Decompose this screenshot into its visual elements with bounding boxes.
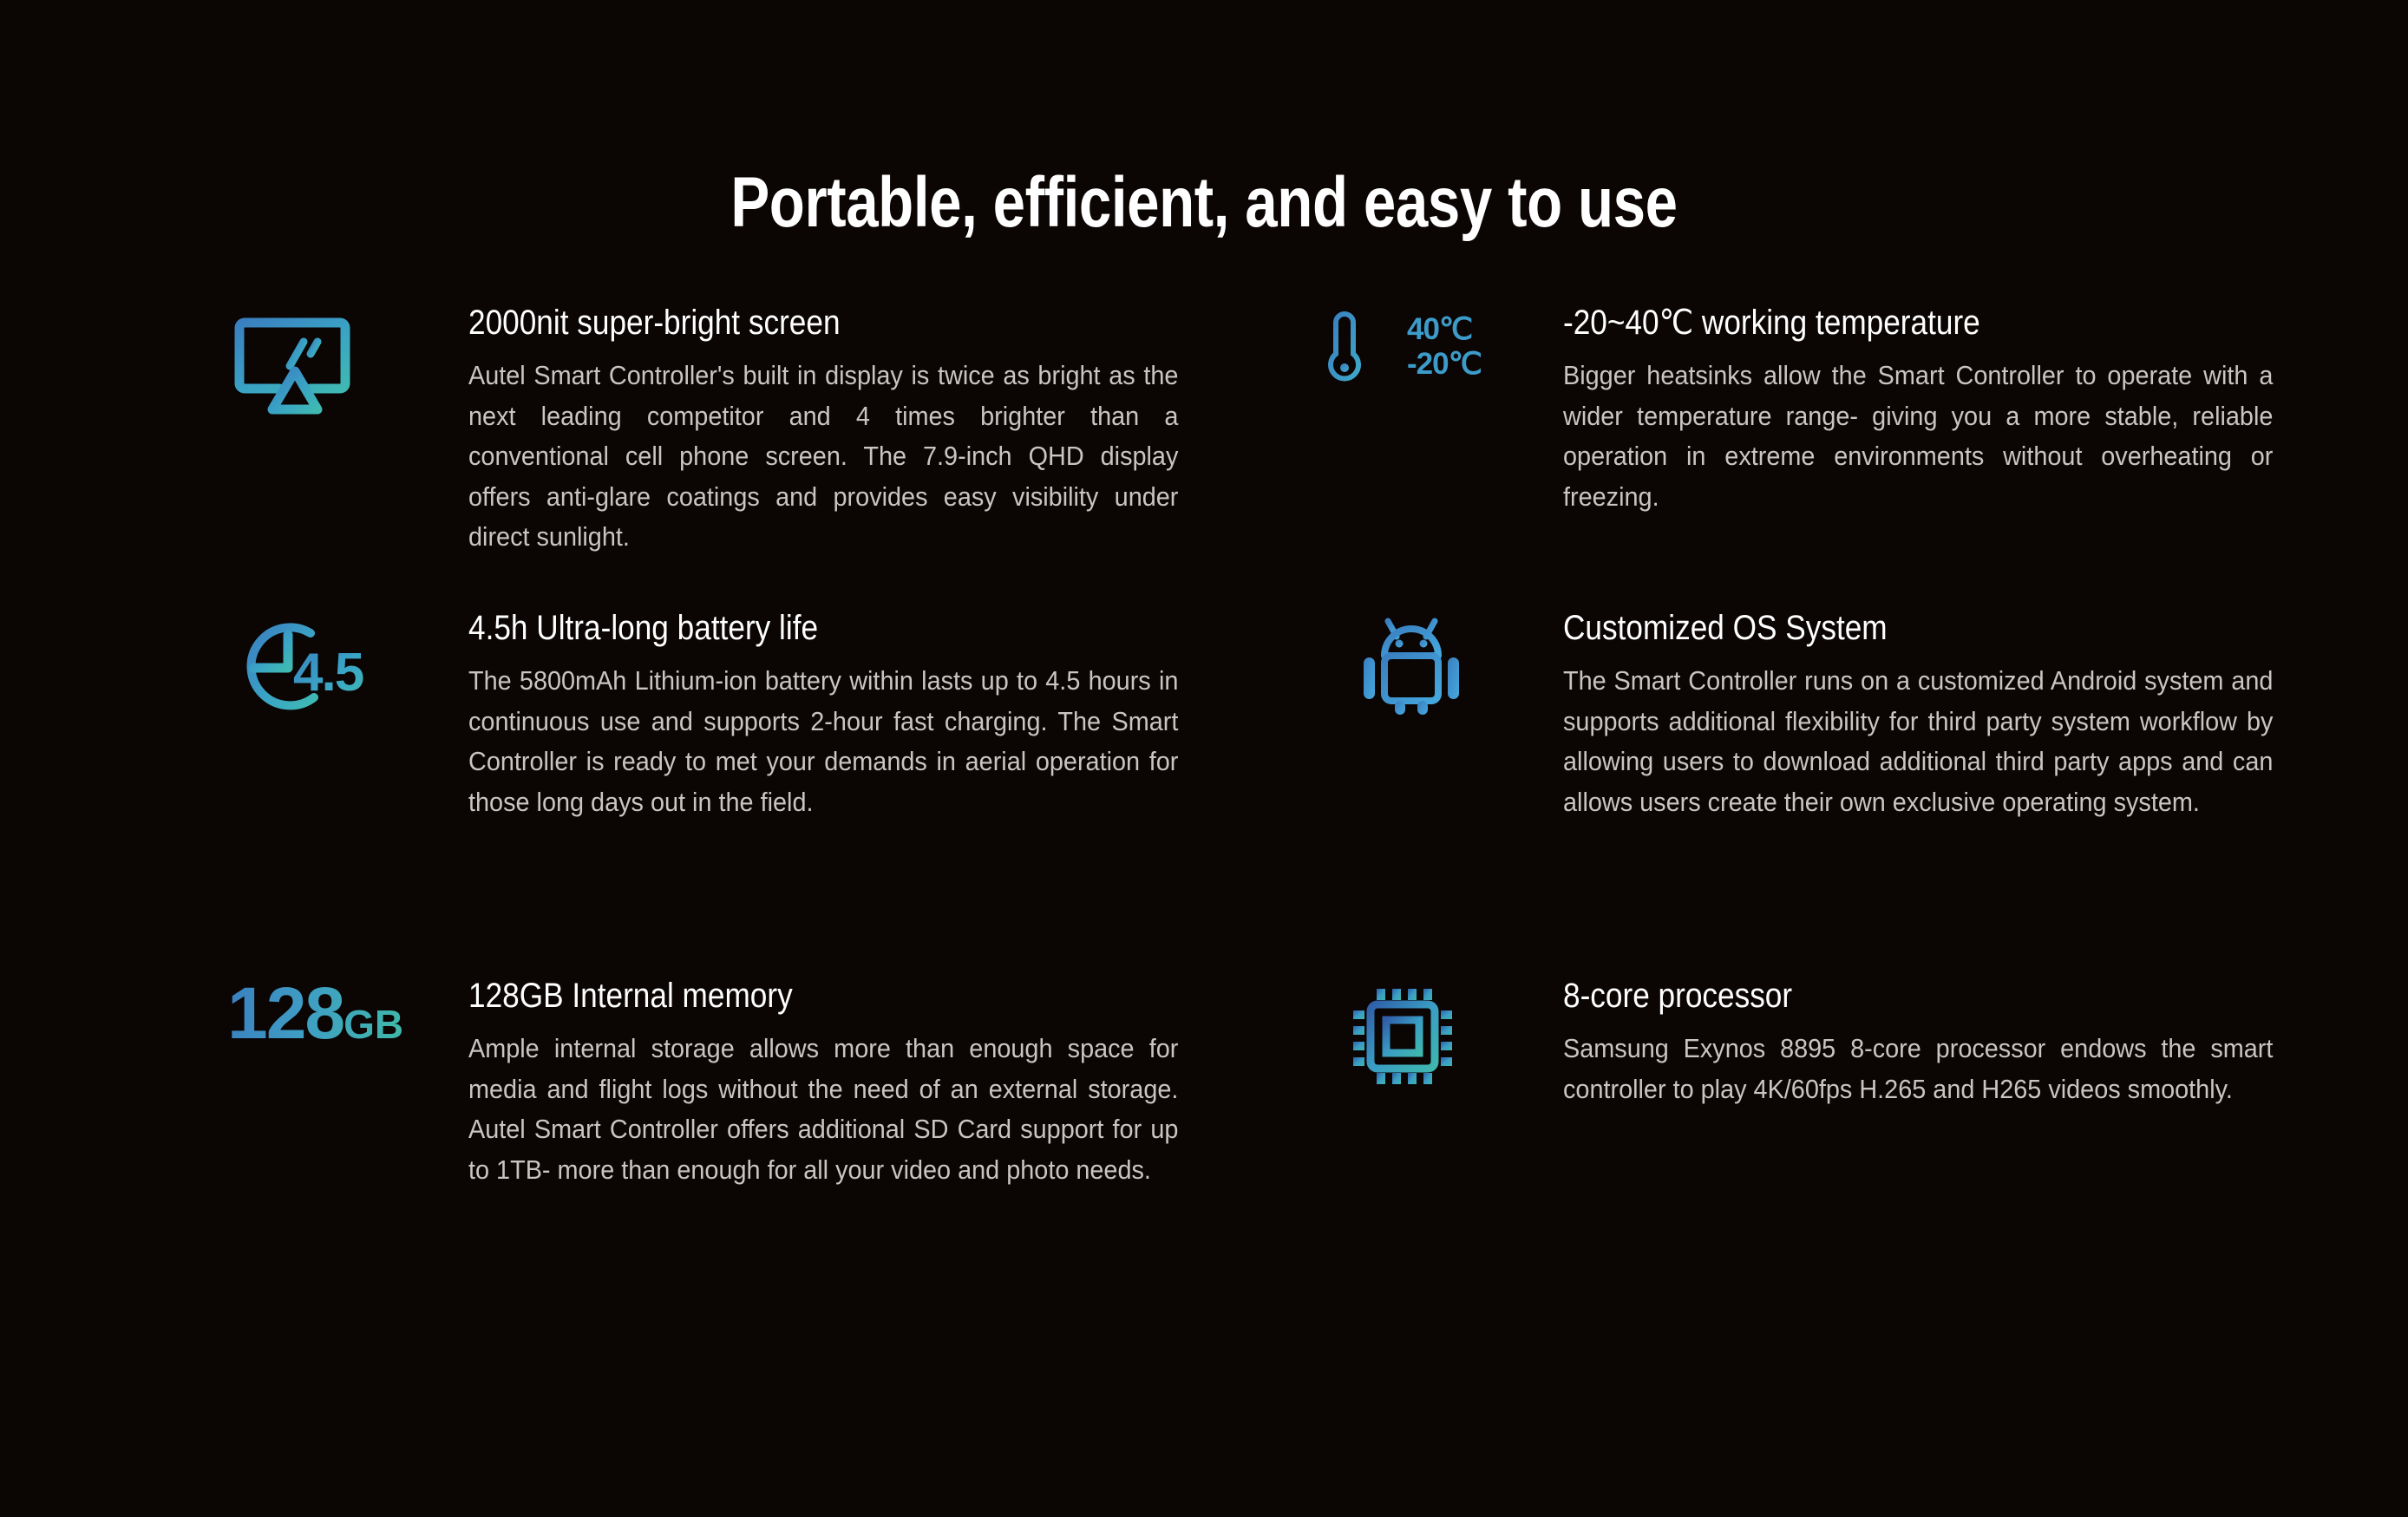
feature-grid: 2000nit super-bright screen Autel Smart … [0, 305, 2408, 1360]
feature-bright-screen: 2000nit super-bright screen Autel Smart … [227, 305, 1310, 611]
feature-customized-os: Customized OS System The Smart Controlle… [1310, 611, 2392, 978]
product-feature-page: Portable, efficient, and easy to use [0, 0, 2408, 1517]
feature-body: Bigger heatsinks allow the Smart Control… [1563, 356, 2273, 517]
clock-battery-icon: 4.5 [227, 614, 364, 718]
feature-internal-memory: 128GB 128GB Internal memory Ample intern… [227, 978, 1310, 1360]
text-cell: Customized OS System The Smart Controlle… [1551, 611, 2392, 822]
feature-body: The Smart Controller runs on a customize… [1563, 661, 2273, 822]
temperature-low-value: -20℃ [1407, 347, 1482, 382]
memory-capacity-unit: GB [344, 1002, 403, 1047]
icon-cell [1310, 611, 1551, 716]
text-cell: -20~40℃ working temperature Bigger heats… [1551, 305, 2392, 517]
svg-text:4.5: 4.5 [293, 643, 363, 703]
feature-body: The 5800mAh Lithium-ion battery within l… [468, 661, 1178, 822]
text-cell: 2000nit super-bright screen Autel Smart … [468, 305, 1310, 558]
feature-body: Autel Smart Controller's built in displa… [468, 356, 1178, 558]
text-cell: 8-core processor Samsung Exynos 8895 8-c… [1551, 978, 2392, 1109]
icon-cell: 40℃ -20℃ [1310, 305, 1551, 389]
memory-capacity-icon: 128GB [227, 977, 403, 1049]
thermometer-icon [1319, 305, 1402, 389]
icon-cell: 4.5 [227, 611, 468, 718]
feature-title: 4.5h Ultra-long battery life [468, 611, 1209, 645]
android-robot-icon [1355, 614, 1468, 716]
bright-screen-icon [227, 309, 364, 420]
feature-title: Customized OS System [1563, 611, 2293, 645]
temperature-high-value: 40℃ [1407, 312, 1482, 347]
feature-title: 2000nit super-bright screen [468, 305, 1209, 340]
feature-title: 8-core processor [1563, 978, 2293, 1013]
feature-battery-life: 4.5 4.5h Ultra-long battery life The 580… [227, 611, 1310, 978]
memory-capacity-number: 128 [227, 972, 344, 1054]
feature-title: -20~40℃ working temperature [1563, 305, 2293, 340]
left-column: 2000nit super-bright screen Autel Smart … [227, 305, 1310, 1360]
icon-cell [1310, 978, 1551, 1091]
text-cell: 4.5h Ultra-long battery life The 5800mAh… [468, 611, 1310, 822]
thermometer-icon-group: 40℃ -20℃ [1319, 305, 1482, 389]
right-column: 40℃ -20℃ -20~40℃ working temperature Big… [1310, 305, 2392, 1360]
temperature-readouts: 40℃ -20℃ [1407, 312, 1482, 383]
feature-processor: 8-core processor Samsung Exynos 8895 8-c… [1310, 978, 2392, 1360]
text-cell: 128GB Internal memory Ample internal sto… [468, 978, 1310, 1190]
icon-cell: 128GB [227, 978, 468, 1049]
feature-body: Ample internal storage allows more than … [468, 1029, 1178, 1190]
page-title: Portable, efficient, and easy to use [217, 167, 2191, 239]
feature-working-temperature: 40℃ -20℃ -20~40℃ working temperature Big… [1310, 305, 2392, 611]
feature-title: 128GB Internal memory [468, 978, 1209, 1013]
icon-cell [227, 305, 468, 420]
feature-body: Samsung Exynos 8895 8-core processor end… [1563, 1029, 2273, 1109]
cpu-chip-icon [1348, 982, 1457, 1091]
